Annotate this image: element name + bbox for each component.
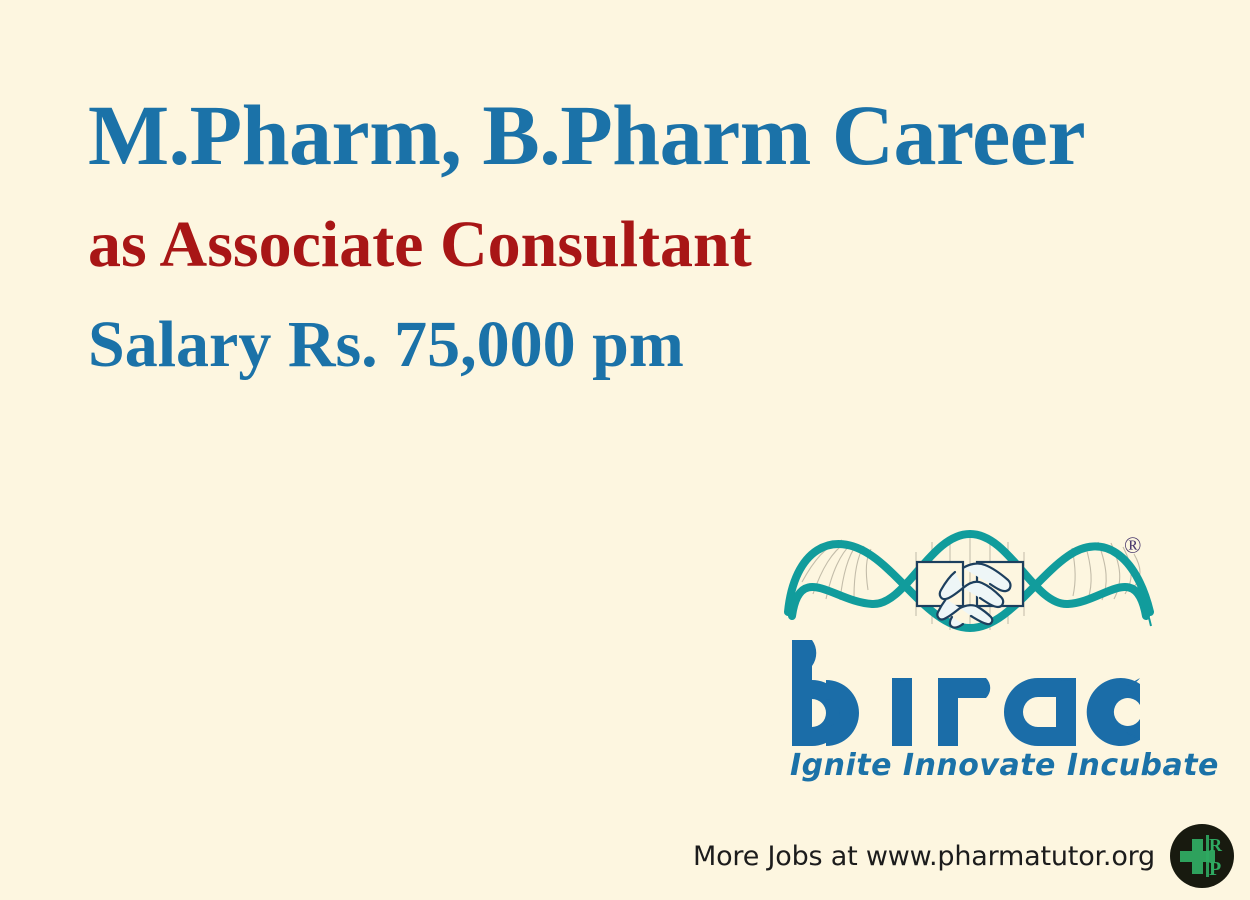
- birac-logo: ®: [780, 520, 1160, 790]
- job-poster: M.Pharm, B.Pharm Career as Associate Con…: [0, 0, 1250, 900]
- svg-text:P: P: [1209, 858, 1221, 880]
- headline-line-2: as Associate Consultant: [88, 212, 1168, 278]
- more-jobs-text: More Jobs at www.pharmatutor.org: [693, 841, 1155, 872]
- pharmatutor-logo-icon: R P: [1169, 823, 1235, 889]
- dna-helix-icon: [780, 520, 1160, 645]
- headline-line-3: Salary Rs. 75,000 pm: [88, 312, 1168, 378]
- headline-line-1: M.Pharm, B.Pharm Career: [88, 92, 1168, 178]
- svg-text:R: R: [1209, 835, 1223, 855]
- registered-trademark-icon: ®: [1124, 534, 1141, 557]
- headline-block: M.Pharm, B.Pharm Career as Associate Con…: [88, 92, 1168, 378]
- birac-tagline: Ignite Innovate Incubate: [790, 748, 1158, 783]
- birac-wordmark: [788, 638, 1160, 750]
- footer: More Jobs at www.pharmatutor.org R P: [690, 820, 1235, 892]
